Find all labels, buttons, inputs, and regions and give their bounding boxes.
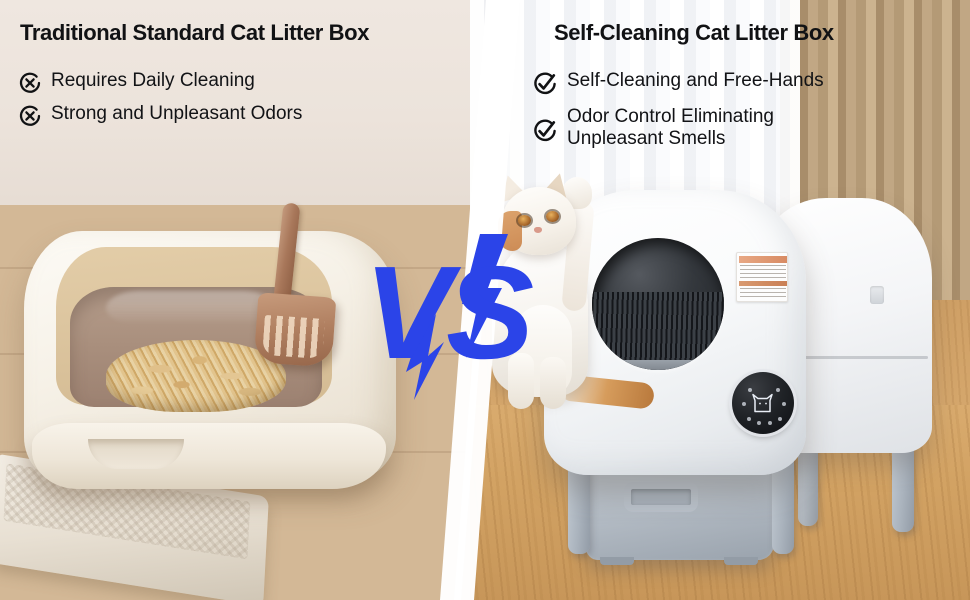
litter-box-front-notch — [88, 439, 184, 469]
list-item-label: Strong and Unpleasant Odors — [51, 103, 302, 125]
traditional-litter-box — [10, 195, 410, 555]
x-circle-icon — [18, 104, 42, 133]
right-panel-title: Self-Cleaning Cat Litter Box — [554, 20, 834, 46]
cat-eye-left — [518, 215, 531, 226]
list-item: Strong and Unpleasant Odors — [18, 103, 302, 133]
left-feature-list: Requires Daily Cleaning Strong and Unple… — [18, 70, 302, 136]
litter-scoop-blade — [254, 292, 337, 367]
versus-graphic: VS — [362, 230, 552, 400]
check-circle-icon — [532, 118, 558, 149]
versus-badge: VS — [362, 230, 552, 400]
cat-eye-right — [546, 211, 559, 222]
pan-gloss-highlight — [106, 291, 276, 325]
right-feature-list: Self-Cleaning and Free-Hands Odor Contro… — [532, 70, 824, 153]
list-item-label: Self-Cleaning and Free-Hands — [567, 70, 824, 92]
control-panel[interactable] — [732, 372, 794, 434]
list-item-label: Requires Daily Cleaning — [51, 70, 255, 92]
scoop-slots — [262, 315, 325, 359]
versus-label: VS — [364, 239, 533, 386]
list-item: Self-Cleaning and Free-Hands — [532, 70, 824, 102]
list-item: Requires Daily Cleaning — [18, 70, 302, 100]
warning-label-sticker — [736, 252, 788, 302]
list-item-label: Odor Control Eliminating Unpleasant Smel… — [567, 106, 774, 150]
cat-silhouette-icon — [751, 392, 775, 414]
drawer-handle[interactable] — [624, 482, 698, 512]
rear-housing-button[interactable] — [870, 286, 884, 304]
comparison-image: VS Traditional Standard Cat Litter Box S… — [0, 0, 970, 600]
left-panel-title: Traditional Standard Cat Litter Box — [20, 20, 369, 46]
check-circle-icon — [532, 71, 558, 102]
x-circle-icon — [18, 71, 42, 100]
litter-box-front-lip — [32, 423, 386, 489]
list-item: Odor Control Eliminating Unpleasant Smel… — [532, 106, 824, 150]
